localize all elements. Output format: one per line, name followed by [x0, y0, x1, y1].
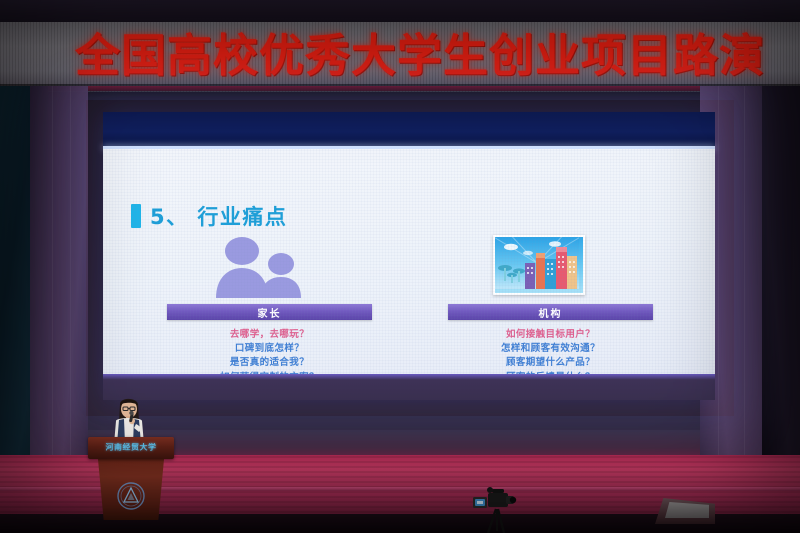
stage-monitor-speaker — [655, 498, 715, 526]
column-parents-header: 家长 — [167, 304, 372, 320]
question-item: 顾客期望什么产品？ — [506, 357, 595, 368]
column-institutions-header: 机构 — [448, 304, 653, 320]
question-item: 是否真的适合我？ — [230, 357, 309, 368]
question-item: 去哪学，去哪玩？ — [230, 329, 309, 340]
slide-navy-band — [103, 112, 715, 148]
projection-screen: 5、 行业痛点 — [103, 112, 715, 400]
podium-university-name: 河南经贸大学 — [94, 442, 168, 453]
city-illustration — [493, 235, 585, 295]
video-camera-on-tripod — [470, 485, 530, 533]
slide-title-text: 5、 行业痛点 — [150, 201, 287, 231]
curtain-right-dark — [762, 86, 800, 486]
event-banner-title: 全国高校优秀大学生创业项目路演 — [62, 27, 778, 83]
slide-bottom-band — [103, 374, 715, 400]
podium: 河南经贸大学 — [88, 437, 174, 523]
two-people-icon — [211, 236, 307, 298]
university-emblem — [116, 481, 146, 511]
question-item: 如何接触目标用户？ — [506, 329, 595, 340]
question-item: 怎样和顾客有效沟通？ — [501, 343, 600, 354]
curtain-rail — [0, 86, 800, 91]
curtain-left-purple — [30, 86, 88, 486]
title-accent-bar — [131, 204, 141, 228]
question-item: 口碑到底怎样？ — [235, 343, 304, 354]
presentation-slide: 5、 行业痛点 — [103, 149, 715, 400]
auditorium-photo: 全国高校优秀大学生创业项目路演 5、 行业痛点 — [0, 0, 800, 533]
slide-title: 5、 行业痛点 — [131, 201, 287, 231]
